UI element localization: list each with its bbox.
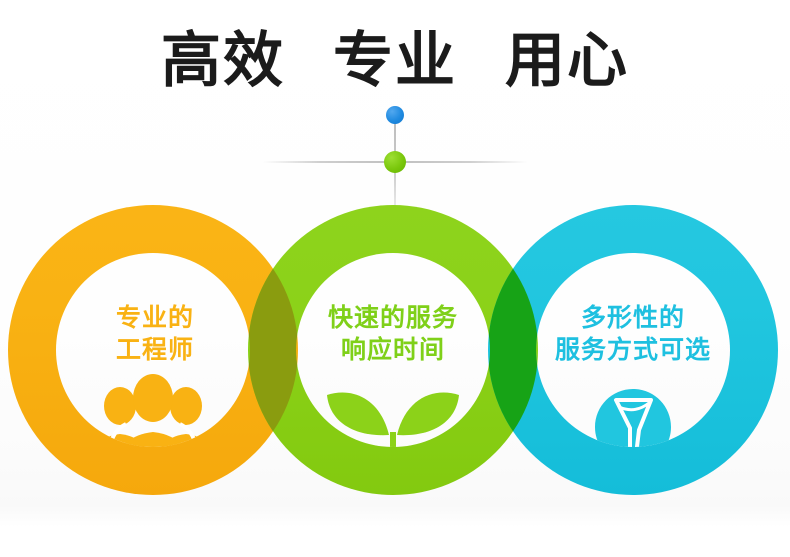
green-cyan-overlap [0,0,790,557]
venn-rings-graphic [0,0,790,557]
poster-canvas: 高效专业用心 [0,0,790,557]
